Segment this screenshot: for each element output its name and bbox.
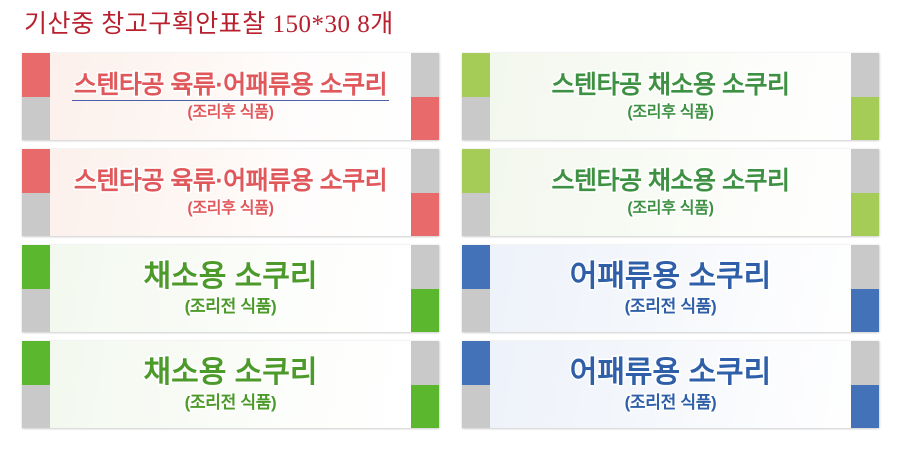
label-tag: 스텐타공 육류·어패류용 소쿠리(조리후 식품)	[22, 53, 439, 140]
right-color-band	[851, 245, 879, 332]
label-tag: 스텐타공 채소용 소쿠리(조리후 식품)	[462, 149, 879, 236]
right-color-band	[851, 53, 879, 140]
left-neutral-swatch	[22, 289, 50, 333]
tag-sub-text: (조리후 식품)	[627, 198, 713, 220]
tag-label-1: 스텐타공 육류·어패류용 소쿠리(조리후 식품)	[22, 53, 439, 140]
tag-text-body: 채소용 소쿠리(조리전 식품)	[50, 245, 411, 332]
document-title: 기산중 창고구획안표찰 150*30 8개	[24, 8, 394, 42]
label-tag: 채소용 소쿠리(조리전 식품)	[22, 341, 439, 428]
right-neutral-swatch	[411, 245, 439, 289]
right-color-band	[411, 149, 439, 236]
left-accent-swatch	[462, 149, 490, 193]
tag-main-text: 어패류용 소쿠리	[570, 355, 772, 391]
left-color-band	[22, 245, 50, 332]
tag-sub-text: (조리후 식품)	[187, 102, 273, 124]
tag-label-8: 어패류용 소쿠리(조리전 식품)	[462, 341, 879, 428]
right-accent-swatch	[411, 193, 439, 237]
tag-sub-text: (조리전 식품)	[625, 392, 717, 414]
tag-sub-text: (조리후 식품)	[627, 102, 713, 124]
tag-text-body: 스텐타공 육류·어패류용 소쿠리(조리후 식품)	[50, 149, 411, 236]
label-tag: 채소용 소쿠리(조리전 식품)	[22, 245, 439, 332]
tag-text-body: 어패류용 소쿠리(조리전 식품)	[490, 245, 851, 332]
right-color-band	[411, 53, 439, 140]
tag-text-body: 채소용 소쿠리(조리전 식품)	[50, 341, 411, 428]
tag-label-2: 스텐타공 채소용 소쿠리(조리후 식품)	[462, 53, 879, 140]
tag-text-body: 스텐타공 채소용 소쿠리(조리후 식품)	[490, 149, 851, 236]
left-color-band	[22, 341, 50, 428]
right-neutral-swatch	[411, 53, 439, 97]
right-accent-swatch	[851, 385, 879, 429]
tag-main-text: 스텐타공 채소용 소쿠리	[552, 165, 790, 197]
tag-main-text: 채소용 소쿠리	[144, 259, 318, 295]
right-color-band	[411, 245, 439, 332]
right-accent-swatch	[851, 193, 879, 237]
tag-label-3: 스텐타공 육류·어패류용 소쿠리(조리후 식품)	[22, 149, 439, 236]
label-tag: 스텐타공 육류·어패류용 소쿠리(조리후 식품)	[22, 149, 439, 236]
left-neutral-swatch	[22, 97, 50, 141]
right-color-band	[851, 341, 879, 428]
tag-sub-text: (조리전 식품)	[625, 296, 717, 318]
tag-main-text: 스텐타공 채소용 소쿠리	[552, 69, 790, 101]
right-accent-swatch	[411, 385, 439, 429]
left-color-band	[22, 149, 50, 236]
left-color-band	[462, 53, 490, 140]
left-neutral-swatch	[462, 193, 490, 237]
left-color-band	[22, 53, 50, 140]
right-accent-swatch	[851, 289, 879, 333]
tag-main-text: 스텐타공 육류·어패류용 소쿠리	[74, 165, 387, 197]
left-accent-swatch	[22, 149, 50, 193]
left-accent-swatch	[22, 245, 50, 289]
right-neutral-swatch	[411, 149, 439, 193]
left-neutral-swatch	[22, 193, 50, 237]
left-accent-swatch	[462, 245, 490, 289]
tag-sub-text: (조리전 식품)	[185, 296, 277, 318]
right-color-band	[851, 149, 879, 236]
tag-sub-text: (조리전 식품)	[185, 392, 277, 414]
tag-main-text: 채소용 소쿠리	[144, 355, 318, 391]
left-accent-swatch	[462, 53, 490, 97]
left-color-band	[462, 341, 490, 428]
tag-main-text: 스텐타공 육류·어패류용 소쿠리	[74, 69, 387, 101]
right-neutral-swatch	[411, 341, 439, 385]
label-tag: 어패류용 소쿠리(조리전 식품)	[462, 245, 879, 332]
tag-label-7: 채소용 소쿠리(조리전 식품)	[22, 341, 439, 428]
right-accent-swatch	[851, 97, 879, 141]
tag-text-body: 어패류용 소쿠리(조리전 식품)	[490, 341, 851, 428]
left-accent-swatch	[462, 341, 490, 385]
left-accent-swatch	[22, 341, 50, 385]
label-tag: 어패류용 소쿠리(조리전 식품)	[462, 341, 879, 428]
right-accent-swatch	[411, 97, 439, 141]
tag-label-5: 채소용 소쿠리(조리전 식품)	[22, 245, 439, 332]
right-neutral-swatch	[851, 245, 879, 289]
tag-label-4: 스텐타공 채소용 소쿠리(조리후 식품)	[462, 149, 879, 236]
left-neutral-swatch	[462, 289, 490, 333]
right-accent-swatch	[411, 289, 439, 333]
tag-main-text: 어패류용 소쿠리	[570, 259, 772, 295]
right-color-band	[411, 341, 439, 428]
left-color-band	[462, 245, 490, 332]
right-neutral-swatch	[851, 341, 879, 385]
left-neutral-swatch	[462, 385, 490, 429]
tag-text-body: 스텐타공 육류·어패류용 소쿠리(조리후 식품)	[50, 53, 411, 140]
left-neutral-swatch	[22, 385, 50, 429]
tag-sub-text: (조리후 식품)	[187, 198, 273, 220]
label-grid: 스텐타공 육류·어패류용 소쿠리(조리후 식품)스텐타공 채소용 소쿠리(조리후…	[0, 53, 906, 453]
right-neutral-swatch	[851, 53, 879, 97]
left-color-band	[462, 149, 490, 236]
left-neutral-swatch	[462, 97, 490, 141]
left-accent-swatch	[22, 53, 50, 97]
label-tag: 스텐타공 채소용 소쿠리(조리후 식품)	[462, 53, 879, 140]
tag-label-6: 어패류용 소쿠리(조리전 식품)	[462, 245, 879, 332]
right-neutral-swatch	[851, 149, 879, 193]
tag-text-body: 스텐타공 채소용 소쿠리(조리후 식품)	[490, 53, 851, 140]
